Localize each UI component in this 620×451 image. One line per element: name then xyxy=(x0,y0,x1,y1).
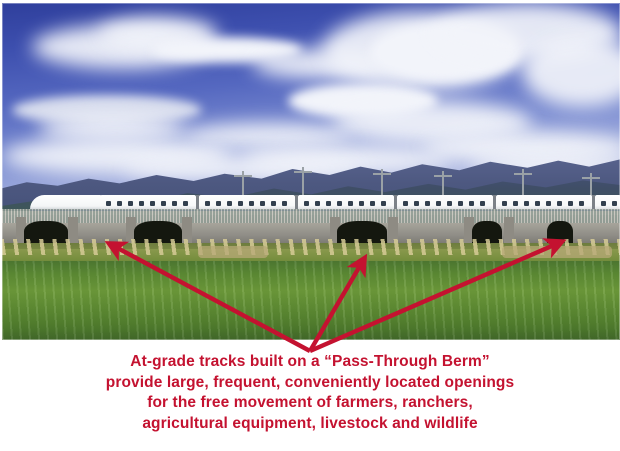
train-window xyxy=(612,201,617,206)
train-window xyxy=(568,201,573,206)
train-window xyxy=(359,201,364,206)
train-window xyxy=(128,201,133,206)
train-window xyxy=(172,201,177,206)
dirt-patch xyxy=(502,246,612,258)
train-window xyxy=(535,201,540,206)
train-window xyxy=(513,201,518,206)
catenary-arm xyxy=(234,175,252,177)
dirt-patch xyxy=(198,246,268,258)
safety-fence xyxy=(2,209,620,223)
train-window xyxy=(260,201,265,206)
train-window xyxy=(579,201,584,206)
train-window xyxy=(326,201,331,206)
caption-line-1: At-grade tracks built on a “Pass-Through… xyxy=(0,352,620,373)
train-berm-photograph xyxy=(2,3,620,340)
train-window xyxy=(524,201,529,206)
train-window xyxy=(106,201,111,206)
slide-root: At-grade tracks built on a “Pass-Through… xyxy=(0,0,620,451)
train-window xyxy=(304,201,309,206)
catenary-arm xyxy=(434,175,452,177)
train-window xyxy=(601,201,606,206)
train-window xyxy=(458,201,463,206)
train-window xyxy=(414,201,419,206)
train-window xyxy=(480,201,485,206)
train-window xyxy=(271,201,276,206)
train-window xyxy=(227,201,232,206)
train-window xyxy=(315,201,320,206)
train-window xyxy=(447,201,452,206)
train-window xyxy=(370,201,375,206)
train-window xyxy=(117,201,122,206)
train-window xyxy=(469,201,474,206)
train-window xyxy=(546,201,551,206)
train-window xyxy=(139,201,144,206)
train-window xyxy=(161,201,166,206)
caption-block: At-grade tracks built on a “Pass-Through… xyxy=(0,352,620,434)
train-window xyxy=(282,201,287,206)
train-window xyxy=(436,201,441,206)
train-window xyxy=(403,201,408,206)
paddy-row-texture xyxy=(2,261,620,340)
train-window xyxy=(425,201,430,206)
caption-line-3: for the free movement of farmers, ranche… xyxy=(0,393,620,414)
train-window xyxy=(238,201,243,206)
caption-line-2: provide large, frequent, conveniently lo… xyxy=(0,373,620,394)
train-window xyxy=(205,201,210,206)
catenary-arm xyxy=(294,171,312,173)
catenary-arm xyxy=(514,173,532,175)
catenary-arm xyxy=(582,177,600,179)
train-window xyxy=(183,201,188,206)
train-window xyxy=(216,201,221,206)
caption-line-4: agricultural equipment, livestock and wi… xyxy=(0,414,620,435)
train-window xyxy=(337,201,342,206)
train-window xyxy=(381,201,386,206)
train-window xyxy=(150,201,155,206)
train-window xyxy=(502,201,507,206)
train-window xyxy=(557,201,562,206)
train-window xyxy=(348,201,353,206)
train-window xyxy=(249,201,254,206)
catenary-arm xyxy=(373,173,391,175)
